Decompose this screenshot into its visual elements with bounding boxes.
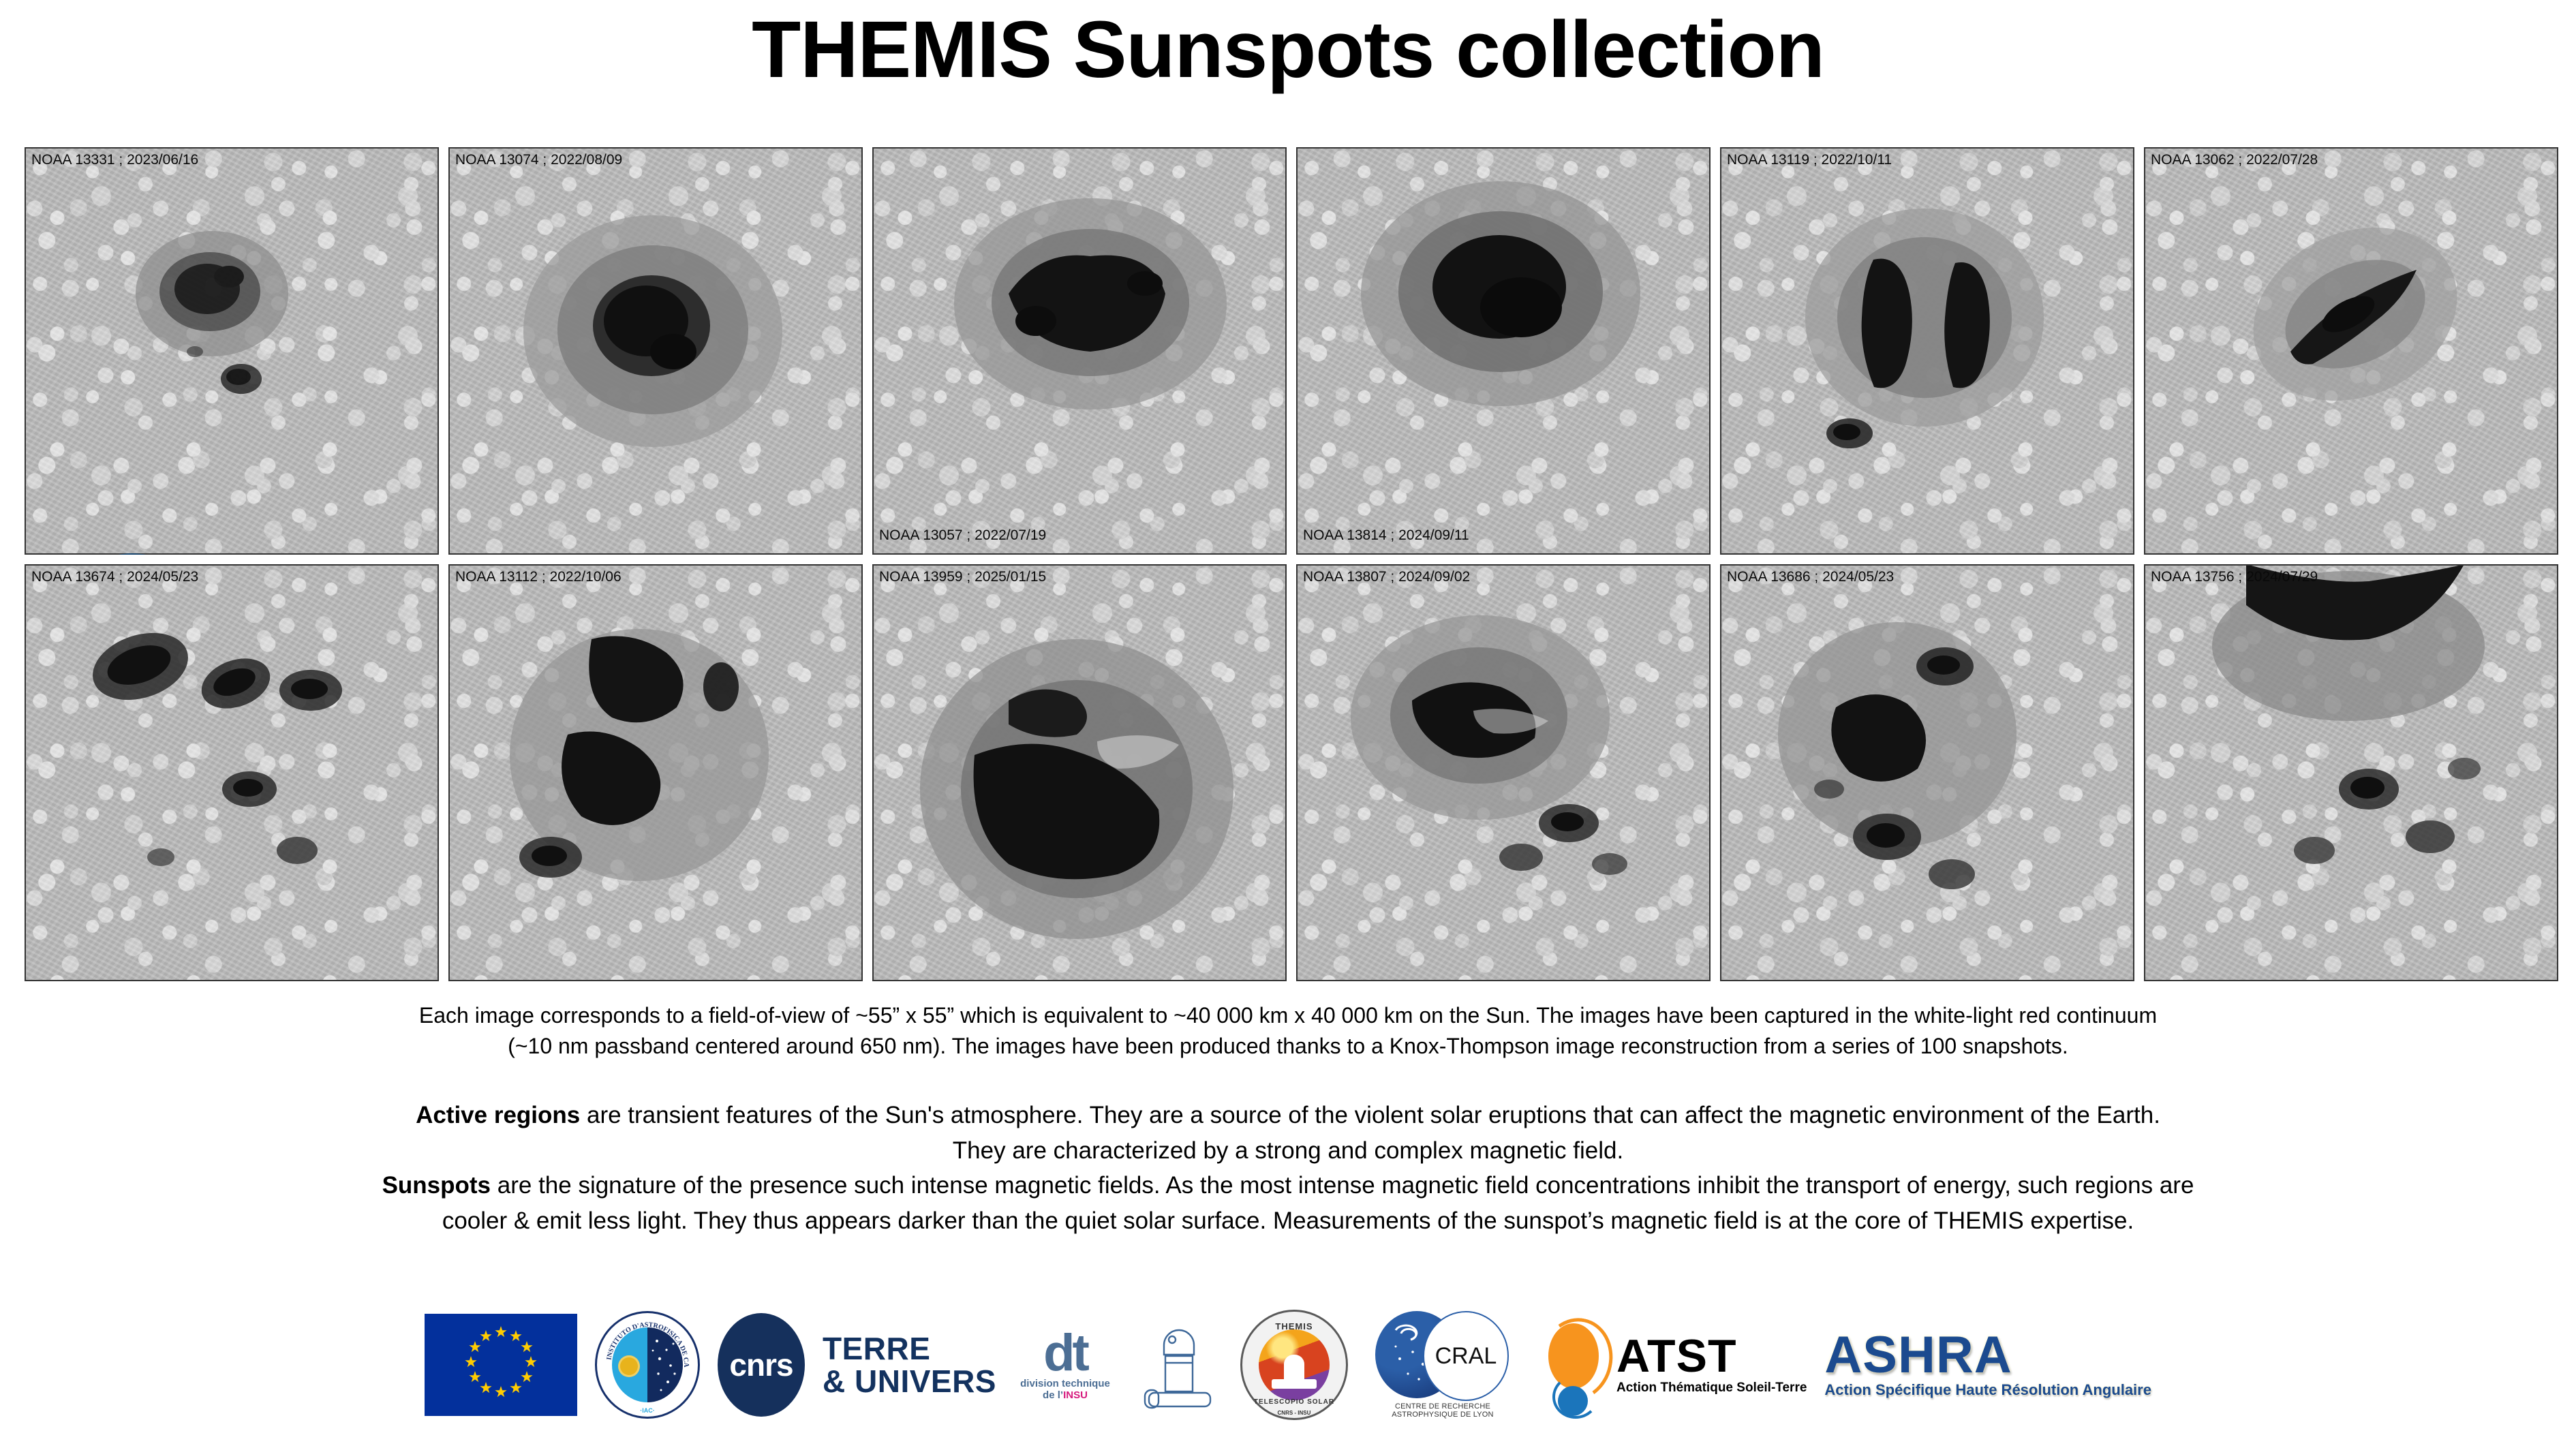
earth-globe-icon (64, 553, 200, 555)
ashra-logo: ASHRA Action Spécifique Haute Résolution… (1824, 1331, 2151, 1399)
active-regions-text: are transient features of the Sun's atmo… (580, 1102, 2160, 1128)
ashra-subtitle: Action Spécifique Haute Résolution Angul… (1824, 1381, 2151, 1399)
cral-block: CRAL CENTRE DE RECHERCHE ASTROPHYSIQUE D… (1366, 1311, 1520, 1419)
caption-line-1: Each image corresponds to a field-of-vie… (0, 1000, 2576, 1031)
earth-scale-inset (64, 553, 207, 555)
themis-name: THEMIS (1242, 1321, 1346, 1331)
sunspot-panel[interactable]: NOAA 13756 ; 2024/07/29 (2144, 564, 2558, 981)
panel-label: NOAA 13814 ; 2024/09/11 (1303, 527, 1469, 544)
dt-subtitle-1: division technique (1014, 1378, 1116, 1389)
sponsor-logo-bar: INSTITUTO D'ASTROFISICA DE CANARIAS ·IAC… (0, 1290, 2576, 1440)
sunspot-panel[interactable]: NOAA 13119 ; 2022/10/11 (1720, 147, 2134, 555)
paragraph-active-regions-line2: They are characterized by a strong and c… (0, 1134, 2576, 1168)
cral-subtitle: CENTRE DE RECHERCHE ASTROPHYSIQUE DE LYO… (1366, 1402, 1520, 1419)
sunspot-shape (1720, 564, 2134, 981)
iac-ring-text-icon: INSTITUTO D'ASTROFISICA DE CANARIAS (597, 1313, 698, 1417)
paragraph-sunspots: Sunspots are the signature of the presen… (0, 1169, 2576, 1203)
cral-logo: CRAL CENTRE DE RECHERCHE ASTROPHYSIQUE D… (1366, 1311, 1520, 1419)
paragraph-sunspots-line2: cooler & emit less light. They thus appe… (0, 1204, 2576, 1238)
sunspot-shape (872, 147, 1287, 555)
dt-block: dt division technique de l’INSU (1014, 1329, 1116, 1401)
iac-seal-icon: INSTITUTO D'ASTROFISICA DE CANARIAS ·IAC… (595, 1311, 700, 1419)
panel-label: NOAA 13057 ; 2022/07/19 (879, 527, 1046, 544)
european-union-flag-icon (425, 1314, 577, 1416)
ashra-wordmark: ASHRA (1824, 1331, 2151, 1380)
panel-label: NOAA 13756 ; 2024/07/29 (2151, 569, 2318, 585)
paragraph-active-regions: Active regions are transient features of… (0, 1098, 2576, 1133)
eu-stars-icon (425, 1314, 577, 1416)
telescope-logo (1134, 1314, 1223, 1416)
themis-disc (1259, 1329, 1330, 1400)
panel-label: NOAA 13074 ; 2022/08/09 (455, 152, 622, 168)
sunspot-shape (1720, 147, 2134, 555)
atst-block: ATST Action Thématique Soleil-Terre (1537, 1314, 1807, 1416)
atst-earth-shape (1558, 1386, 1588, 1416)
terre-line1: TERRE (823, 1331, 930, 1366)
panel-label: NOAA 13807 ; 2024/09/02 (1303, 569, 1470, 585)
sunspot-panel[interactable]: NOAA 13331 ; 2023/06/16 Scaled size of E… (25, 147, 439, 555)
themis-logo: THEMIS TELESCOPIO SOLAR CNRS - INSU (1240, 1310, 1348, 1420)
panel-label: NOAA 13331 ; 2023/06/16 (31, 152, 198, 168)
sunspot-shape (872, 564, 1287, 981)
iac-caption: ·IAC· (597, 1407, 698, 1414)
sunspot-panel[interactable]: NOAA 13959 ; 2025/01/15 (872, 564, 1287, 981)
page-title: THEMIS Sunspots collection (0, 0, 2576, 102)
panel-label: NOAA 13112 ; 2022/10/06 (455, 569, 622, 585)
terre-line2: & UNIVERS (823, 1364, 996, 1399)
eu-flag-logo (425, 1314, 577, 1416)
atst-mark-icon (1537, 1314, 1611, 1416)
iac-logo: INSTITUTO D'ASTROFISICA DE CANARIAS ·IAC… (595, 1311, 700, 1419)
division-technique-insu-logo: dt division technique de l’INSU (1014, 1329, 1116, 1401)
sunspot-shape (448, 147, 863, 555)
cral-venn-icon: CRAL (1366, 1311, 1520, 1401)
dt-monogram: dt (1014, 1329, 1116, 1378)
cral-wordmark: CRAL (1423, 1311, 1509, 1401)
dt-subtitle-2: de l’INSU (1014, 1389, 1116, 1401)
sunspot-shape (25, 564, 439, 981)
panel-label: NOAA 13686 ; 2024/05/23 (1727, 569, 1894, 585)
sunspot-shape (25, 147, 439, 555)
sunspot-panel[interactable]: NOAA 13057 ; 2022/07/19 (872, 147, 1287, 555)
sunspot-row-2: NOAA 13674 ; 2024/05/23 NOAA 13112 ; 202… (25, 564, 2557, 981)
themis-base-icon (1272, 1379, 1317, 1389)
sunspot-image-grid: NOAA 13331 ; 2023/06/16 Scaled size of E… (25, 147, 2557, 991)
sunspot-shape (2144, 147, 2558, 555)
themis-seal-icon: THEMIS TELESCOPIO SOLAR CNRS - INSU (1240, 1310, 1348, 1420)
panel-label: NOAA 13062 ; 2022/07/28 (2151, 152, 2318, 168)
sunspot-panel[interactable]: NOAA 13686 ; 2024/05/23 (1720, 564, 2134, 981)
sunspots-text: are the signature of the presence such i… (491, 1172, 2194, 1199)
sunspot-panel[interactable]: NOAA 13112 ; 2022/10/06 (448, 564, 863, 981)
telescope-icon (1134, 1314, 1223, 1416)
sunspot-panel[interactable]: NOAA 13807 ; 2024/09/02 (1296, 564, 1711, 981)
figure-caption: Each image corresponds to a field-of-vie… (0, 1000, 2576, 1062)
sunspot-row-1: NOAA 13331 ; 2023/06/16 Scaled size of E… (25, 147, 2557, 555)
active-regions-term: Active regions (416, 1102, 580, 1128)
dt-de-l: de l’ (1043, 1389, 1063, 1401)
terre-et-univers-logo: TERRE & UNIVERS (823, 1332, 996, 1398)
sunspot-shape (1296, 147, 1711, 555)
terre-univers-wordmark: TERRE & UNIVERS (823, 1332, 996, 1398)
sunspot-panel[interactable]: NOAA 13814 ; 2024/09/11 (1296, 147, 1711, 555)
sunspot-shape (448, 564, 863, 981)
ashra-block: ASHRA Action Spécifique Haute Résolution… (1824, 1331, 2151, 1399)
themis-footer: CNRS - INSU (1242, 1410, 1346, 1416)
atst-logo: ATST Action Thématique Soleil-Terre (1537, 1314, 1807, 1416)
dt-insu: INSU (1063, 1389, 1088, 1401)
atst-words: ATST Action Thématique Soleil-Terre (1616, 1334, 1807, 1396)
explanatory-text: Active regions are transient features of… (0, 1098, 2576, 1239)
sunspot-shape (2144, 564, 2558, 981)
cnrs-wordmark: cnrs (718, 1313, 805, 1417)
sunspot-panel[interactable]: NOAA 13062 ; 2022/07/28 (2144, 147, 2558, 555)
sunspots-term: Sunspots (382, 1172, 491, 1199)
sunspot-shape (1296, 564, 1711, 981)
cnrs-logo: cnrs (718, 1313, 805, 1417)
caption-line-2: (~10 nm passband centered around 650 nm)… (0, 1031, 2576, 1062)
svg-text:INSTITUTO D'ASTROFISICA DE CAN: INSTITUTO D'ASTROFISICA DE CANARIAS (597, 1313, 690, 1368)
sunspot-panel[interactable]: NOAA 13074 ; 2022/08/09 (448, 147, 863, 555)
atst-subtitle: Action Thématique Soleil-Terre (1616, 1381, 1807, 1396)
sunspot-panel[interactable]: NOAA 13674 ; 2024/05/23 (25, 564, 439, 981)
panel-label: NOAA 13674 ; 2024/05/23 (31, 569, 198, 585)
panel-label: NOAA 13119 ; 2022/10/11 (1727, 152, 1892, 168)
atst-wordmark: ATST (1616, 1334, 1807, 1378)
panel-label: NOAA 13959 ; 2025/01/15 (879, 569, 1046, 585)
themis-subtitle: TELESCOPIO SOLAR (1242, 1398, 1346, 1406)
